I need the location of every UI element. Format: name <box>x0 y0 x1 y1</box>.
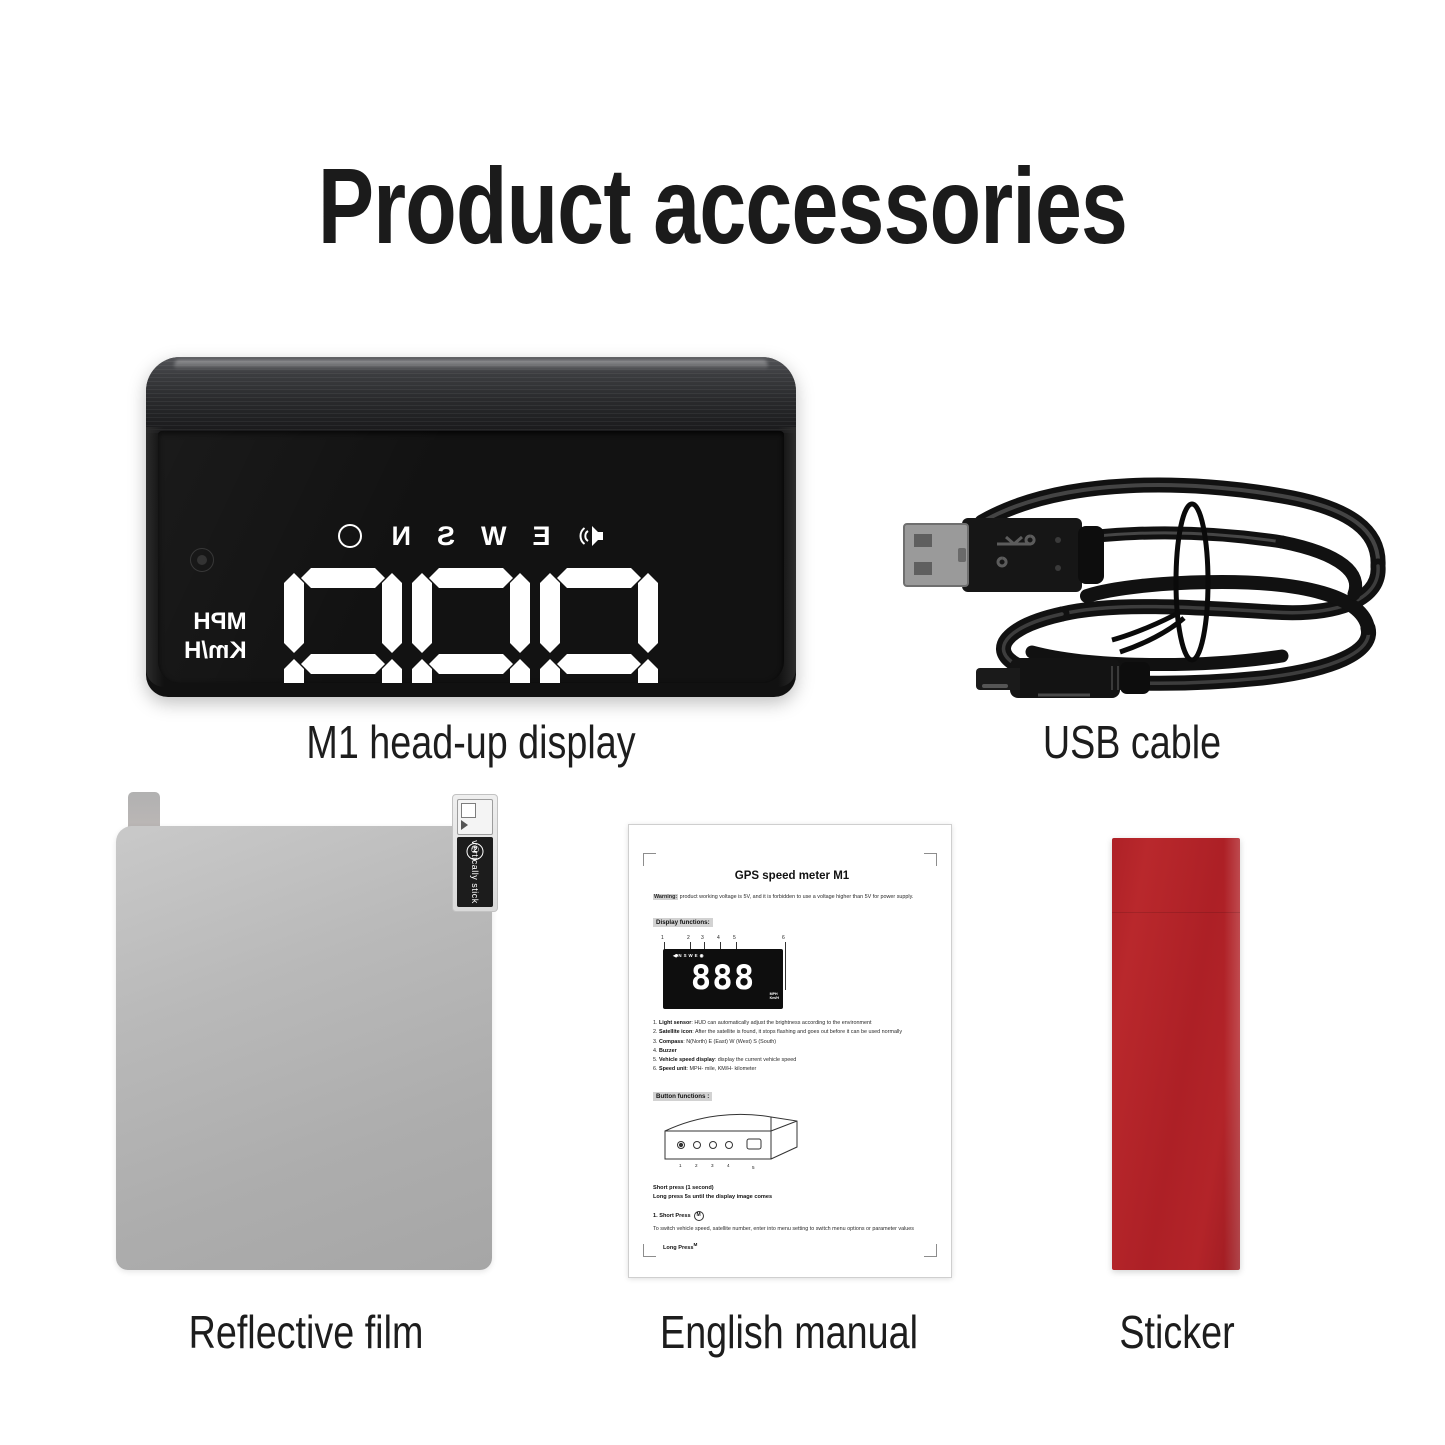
manual-function-item-1: 1. Light sensor: HUD can automatically a… <box>653 1019 931 1028</box>
m-button-icon: M <box>694 1211 704 1221</box>
compass-letter-n: N <box>392 523 412 550</box>
caption-hud: M1 head-up display <box>205 715 738 769</box>
seven-segment-digit-3 <box>284 568 402 683</box>
compass-letter-s: S <box>437 523 455 550</box>
manual-warning-text: product working voltage is 5V, and it is… <box>678 894 913 900</box>
usb-cable-illustration <box>862 462 1402 724</box>
hud-unit-labels: MPH Km/H <box>184 608 247 665</box>
hud-shell: E W S N <box>146 357 796 697</box>
manual-diagram-screen: ◀ N S W E ◉ 888 MPH Km/H <box>663 949 783 1009</box>
manual-press-instructions: Short press (1 second) Long press 5s unt… <box>653 1184 931 1202</box>
satellite-icon <box>336 521 366 551</box>
manual-display-diagram: 1 2 3 4 5 6 ◀ N S W E ◉ <box>655 935 793 1009</box>
caption-film: Reflective film <box>145 1305 466 1359</box>
item-term: Compass <box>659 1039 683 1045</box>
sticker-image <box>1112 838 1240 1270</box>
callout-3: 3 <box>701 935 704 941</box>
manual-diagram-letter-s: S <box>684 953 687 958</box>
manual-function-item-6: 6. Speed unit: MPH- mile, KM/H- kilomete… <box>653 1065 931 1074</box>
callout-2: 2 <box>687 935 690 941</box>
usb-a-connector <box>904 518 1104 592</box>
seven-segment-digit-2 <box>412 568 530 683</box>
item-desc: : N(North) E (East) W (West) S (South) <box>683 1039 776 1045</box>
manual-diagram-digits: 888 <box>663 961 783 995</box>
manual-diagram-unit-kmh: Km/H <box>770 996 779 1001</box>
item-term: Satellite icon <box>659 1029 692 1035</box>
caption-usb: USB cable <box>911 715 1354 769</box>
manual-button-diagram-illustration: 1 2 3 4 5 <box>659 1109 809 1175</box>
manual-button-diagram: 1 2 3 4 5 <box>659 1109 809 1175</box>
manual-long-press-line: Long press 5s until the display image co… <box>653 1193 931 1202</box>
btn-label-3: 3 <box>711 1163 714 1168</box>
caption-manual: English manual <box>657 1305 921 1359</box>
manual-step-short-press-desc: To switch vehicle speed, satellite numbe… <box>653 1225 931 1234</box>
manual-function-item-4: 4. Buzzer <box>653 1047 931 1056</box>
callout-5: 5 <box>733 935 736 941</box>
english-manual-page: GPS speed meter M1 Warning: product work… <box>628 824 952 1278</box>
unit-mph: MPH <box>184 608 247 636</box>
hud-status-row: E W S N <box>158 521 784 551</box>
hud-top-bezel <box>146 357 796 433</box>
manual-diagram-callouts: 1 2 3 4 5 6 <box>655 935 793 949</box>
callout-1: 1 <box>661 935 664 941</box>
manual-display-functions-heading: Display functions: <box>653 918 713 927</box>
manual-step-short-press: 1. Short Press M <box>653 1211 931 1221</box>
item-desc: : display the current vehicle speed <box>715 1057 797 1063</box>
hud-screen: E W S N <box>158 431 784 683</box>
item-term: Speed unit <box>659 1066 687 1072</box>
hud-speed-digits <box>158 568 784 683</box>
compass-letter-e: E <box>533 523 551 550</box>
film-label-text: vertically stick <box>470 840 480 904</box>
m-button-icon-small: M <box>693 1242 697 1247</box>
item-term: Light sensor <box>659 1020 691 1026</box>
btn-label-4: 4 <box>727 1163 730 1168</box>
item-number: 6. <box>653 1066 658 1072</box>
manual-diagram-buzzer-icon: ◀ <box>673 953 676 959</box>
hud-top-gloss <box>174 360 768 370</box>
item-number: 1. <box>653 1020 658 1026</box>
item-desc: : MPH- mile, KM/H- kilometer <box>687 1066 757 1072</box>
manual-warning-label: Warning: <box>653 894 678 900</box>
manual-short-press-line: Short press (1 second) <box>653 1184 931 1193</box>
hud-device: E W S N <box>146 357 796 697</box>
reflective-film-image: ② vertically stick <box>110 790 502 1278</box>
manual-function-item-5: 5. Vehicle speed display: display the cu… <box>653 1056 931 1065</box>
btn-label-2: 2 <box>695 1163 698 1168</box>
usb-cable-image <box>862 462 1402 724</box>
manual-step-long-press-label: Long Press <box>663 1245 693 1251</box>
item-desc: : HUD can automatically adjust the brigh… <box>691 1020 871 1026</box>
mini-usb-connector <box>976 658 1150 698</box>
manual-diagram-letter-n: N <box>678 953 681 958</box>
btn-label-1: 1 <box>679 1163 682 1168</box>
manual-title: GPS speed meter M1 <box>653 870 931 882</box>
item-number: 4. <box>653 1048 658 1054</box>
film-body <box>116 826 492 1270</box>
item-number: 2. <box>653 1029 658 1035</box>
manual-warning-paragraph: Warning: product working voltage is 5V, … <box>653 893 931 902</box>
item-term: Vehicle speed display <box>659 1057 715 1063</box>
film-label-diagram-icon <box>457 799 493 835</box>
item-number: 5. <box>653 1057 658 1063</box>
btn-label-5: 5 <box>752 1165 755 1170</box>
item-desc: : After the satellite is found, it stops… <box>692 1029 902 1035</box>
compass-letter-w: W <box>481 523 506 550</box>
item-term: Buzzer <box>659 1048 677 1054</box>
buzzer-icon <box>577 523 607 549</box>
unit-kmh: Km/H <box>184 637 247 665</box>
item-number: 3. <box>653 1039 658 1045</box>
manual-step-long-press: Long PressM <box>663 1242 931 1251</box>
film-instruction-label: ② vertically stick <box>452 794 498 912</box>
manual-function-item-2: 2. Satellite icon: After the satellite i… <box>653 1028 931 1037</box>
manual-diagram-units: MPH Km/H <box>770 992 779 1001</box>
manual-step-short-press-label: 1. Short Press <box>653 1213 691 1219</box>
caption-sticker: Sticker <box>1075 1305 1280 1359</box>
page-title: Product accessories <box>159 152 1286 260</box>
manual-button-functions-heading: Button functions : <box>653 1092 712 1101</box>
callout-6: 6 <box>782 935 785 941</box>
manual-function-list: 1. Light sensor: HUD can automatically a… <box>653 1019 931 1075</box>
callout-4: 4 <box>717 935 720 941</box>
film-label-black-strip: ② vertically stick <box>457 837 493 907</box>
manual-function-item-3: 3. Compass: N(North) E (East) W (West) S… <box>653 1038 931 1047</box>
seven-segment-digit-1 <box>540 568 658 683</box>
